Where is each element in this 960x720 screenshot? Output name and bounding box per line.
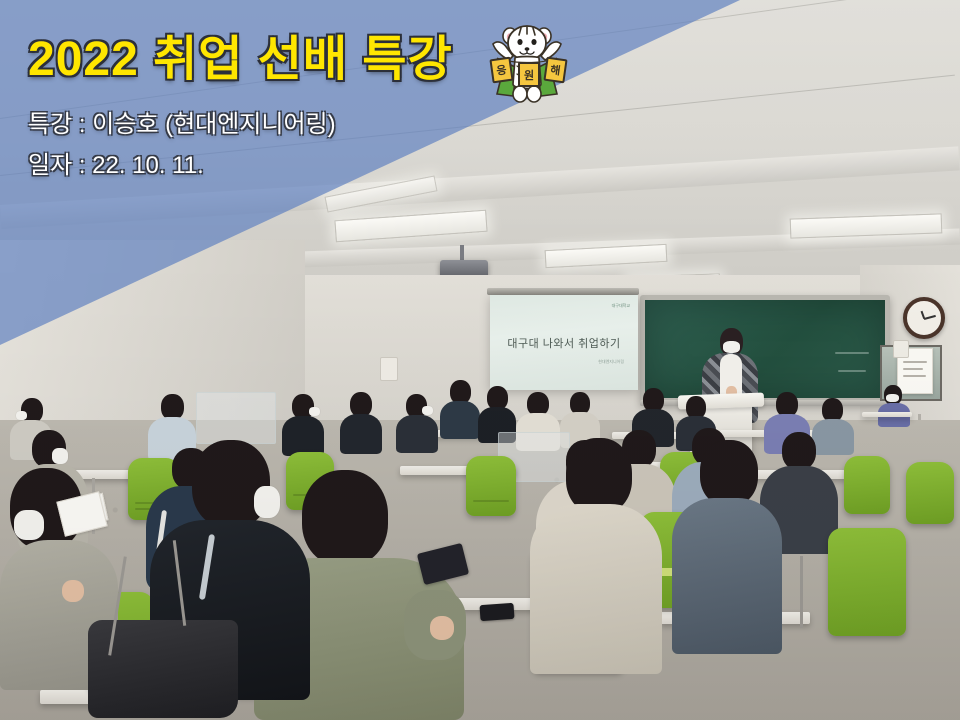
chalk-mark [838, 370, 866, 372]
wall-switch [893, 340, 909, 358]
slide-logo: 대구대학교 [612, 303, 630, 309]
white-tiger-mascot: 응 원 해 [487, 18, 567, 110]
mascot-card-3: 해 [543, 57, 567, 84]
chair [906, 462, 954, 524]
mascot-card-2: 원 [518, 62, 540, 87]
chair-leg [800, 556, 803, 628]
chalkboard [645, 300, 885, 398]
mascot-card-1: 응 [489, 57, 513, 84]
slide-title: 대구대 나와서 취업하기 [490, 335, 638, 351]
speaker-line: 특강 : 이승호 (현대엔지니어링) [28, 106, 453, 143]
smartphone [479, 603, 514, 621]
page-title: 2022 취업 선배 특강 [28, 36, 453, 84]
chalk-mark [835, 352, 869, 354]
side-desk [862, 412, 912, 417]
chair [844, 456, 890, 514]
wall-clock [903, 297, 945, 339]
date-line: 일자 : 22. 10. 11. [28, 147, 453, 184]
desk-partition [196, 392, 276, 444]
student [672, 440, 782, 660]
student [530, 438, 662, 678]
poster-text-block: 2022 취업 선배 특강 특강 : 이승호 (현대엔지니어링) 일자 : 22… [28, 36, 453, 184]
slide-subtitle: 현대엔지니어링 [598, 359, 624, 365]
wall-outlet [380, 357, 398, 381]
screen-roller [487, 288, 639, 295]
chair [466, 456, 516, 516]
student [340, 392, 382, 450]
seated-observer [878, 385, 910, 425]
poster-image: 대구대학교 대구대 나와서 취업하기 현대엔지니어링 [0, 0, 960, 720]
chair [828, 528, 906, 636]
projection-screen: 대구대학교 대구대 나와서 취업하기 현대엔지니어링 [490, 295, 638, 390]
student [396, 394, 438, 450]
student [440, 380, 480, 436]
